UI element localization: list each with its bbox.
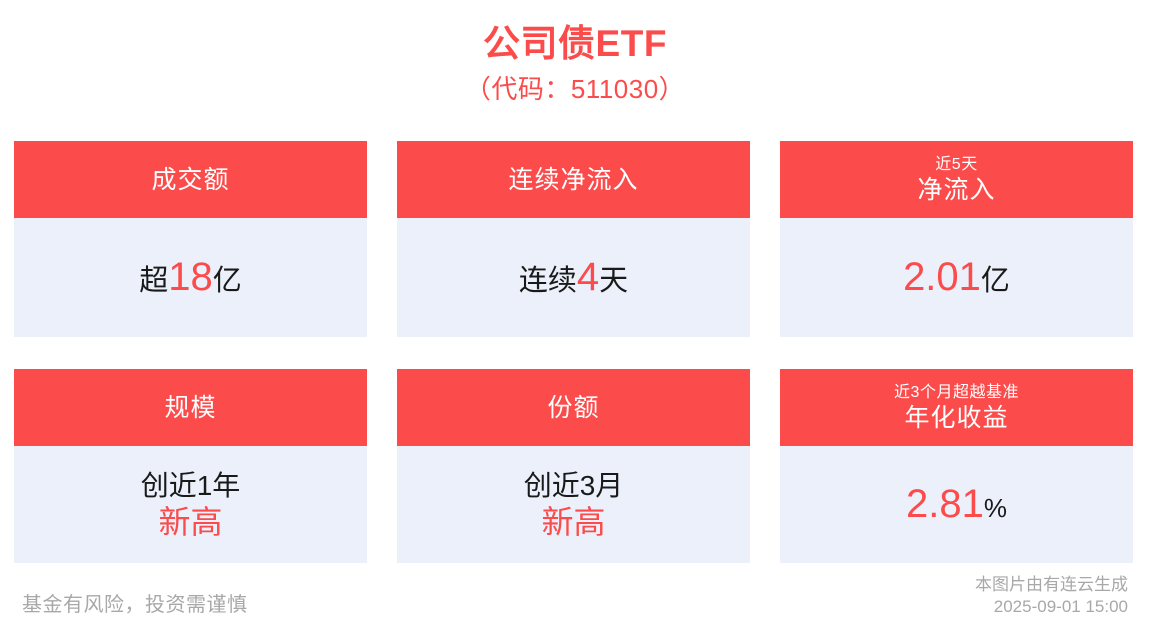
card-body-turnover: 超18亿 — [14, 218, 367, 337]
image-source-label: 本图片由有连云生成 — [975, 574, 1128, 596]
footer-meta: 本图片由有连云生成 2025-09-01 15:00 — [975, 574, 1128, 618]
metric-card-scale: 规模 创近1年 新高 — [14, 369, 367, 563]
card-header-subtitle: 近3个月超越基准 — [894, 383, 1019, 403]
metric-card-net-inflow-5d: 近5天 净流入 2.01亿 — [780, 141, 1133, 337]
card-value: 超18亿 — [139, 255, 242, 300]
card-body-shares: 创近3月 新高 — [397, 446, 750, 563]
card-value-line-bottom: 新高 — [541, 503, 605, 541]
card-header-title: 年化收益 — [904, 403, 1008, 433]
card-value: 2.01亿 — [903, 255, 1010, 300]
etf-infographic-page: 公司债ETF （代码：511030） 成交额 超18亿 连续净流入 连续4天 近… — [0, 0, 1150, 632]
metric-card-grid: 成交额 超18亿 连续净流入 连续4天 近5天 净流入 2.01亿 — [14, 141, 1136, 563]
card-header-turnover: 成交额 — [14, 141, 367, 218]
card-value-line-bottom: 新高 — [158, 503, 222, 541]
card-body-annualized-return: 2.81% — [780, 446, 1133, 563]
risk-disclaimer: 基金有风险，投资需谨慎 — [22, 592, 248, 618]
card-value-line-top: 创近3月 — [524, 469, 624, 503]
value-number: 2.81 — [906, 482, 984, 526]
card-header-title: 净流入 — [917, 175, 995, 205]
value-number: 2.01 — [903, 255, 981, 299]
card-header-title: 规模 — [164, 393, 216, 423]
value-unit: % — [984, 493, 1007, 523]
metric-card-annualized-return: 近3个月超越基准 年化收益 2.81% — [780, 369, 1133, 563]
fund-code-label: （代码：511030） — [0, 72, 1150, 106]
value-unit: 亿 — [981, 265, 1010, 297]
page-title: 公司债ETF — [0, 22, 1150, 66]
value-number: 18 — [168, 255, 213, 299]
card-header-consecutive-inflow: 连续净流入 — [397, 141, 750, 218]
card-body-consecutive-inflow: 连续4天 — [397, 218, 750, 337]
card-body-net-inflow-5d: 2.01亿 — [780, 218, 1133, 337]
card-value-line-top: 创近1年 — [141, 469, 241, 503]
value-unit: 亿 — [213, 265, 242, 297]
card-header-title: 份额 — [547, 393, 599, 423]
card-header-title: 连续净流入 — [508, 165, 638, 195]
generated-timestamp: 2025-09-01 15:00 — [975, 596, 1128, 618]
card-value: 连续4天 — [519, 255, 628, 300]
card-header-subtitle: 近5天 — [935, 155, 977, 175]
value-prefix: 超 — [139, 265, 168, 297]
card-body-scale: 创近1年 新高 — [14, 446, 367, 563]
footer: 基金有风险，投资需谨慎 本图片由有连云生成 2025-09-01 15:00 — [0, 564, 1150, 632]
metric-card-turnover: 成交额 超18亿 — [14, 141, 367, 337]
card-header-net-inflow-5d: 近5天 净流入 — [780, 141, 1133, 218]
title-block: 公司债ETF （代码：511030） — [0, 0, 1150, 106]
card-value: 2.81% — [906, 482, 1007, 527]
value-number: 4 — [577, 255, 599, 299]
card-header-annualized-return: 近3个月超越基准 年化收益 — [780, 369, 1133, 446]
value-unit: 天 — [599, 265, 628, 297]
card-header-title: 成交额 — [151, 165, 229, 195]
card-header-shares: 份额 — [397, 369, 750, 446]
metric-card-shares: 份额 创近3月 新高 — [397, 369, 750, 563]
value-prefix: 连续 — [519, 265, 577, 297]
card-header-scale: 规模 — [14, 369, 367, 446]
metric-card-consecutive-inflow: 连续净流入 连续4天 — [397, 141, 750, 337]
